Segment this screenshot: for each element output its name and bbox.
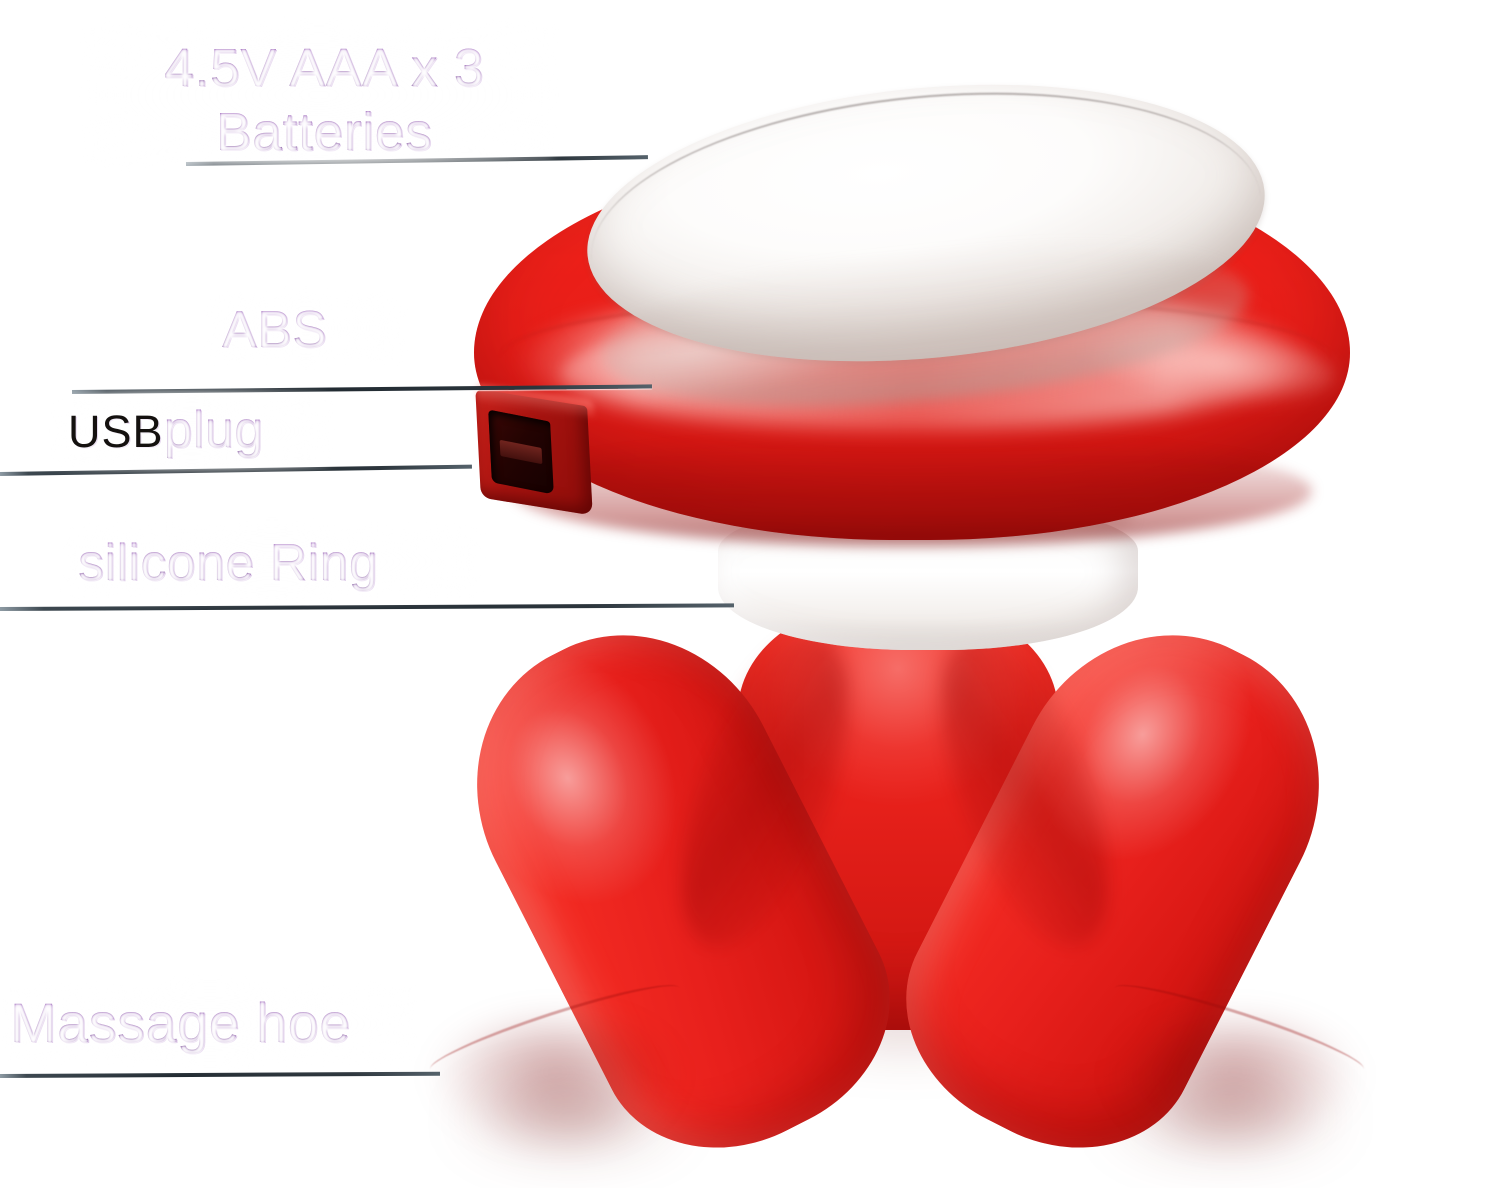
annotation-label-batteries-line1: 4.5V AAA x 3 [164,38,484,98]
white-top-cap [575,56,1278,390]
annotation-label-usb-plug: USBplug [68,400,263,460]
usb-port-housing [475,389,592,516]
annotation-label-batteries: 4.5V AAA x 3 Batteries [104,36,544,164]
leg-crease-right [907,614,1142,969]
leader-line-silicone-ring [0,603,734,611]
massage-leg-right [864,584,1372,1188]
annotation-label-silicone-ring: silicone Ring [78,533,378,593]
annotation-label-massage-hoe-text: Massage hoe [10,991,351,1054]
annotation-label-abs-text: ABS [222,301,327,359]
leg-left-shadow [452,1078,692,1158]
top-cap-edge-outline [579,64,1273,391]
usb-port-cavity [488,409,554,494]
annotation-label-usb-prefix: USB [68,406,164,457]
massage-leg-left [424,584,932,1188]
annotation-label-silicone-ring-text: silicone Ring [78,534,378,592]
usb-port-tongue [500,440,543,464]
leg-seam-right [1109,972,1368,1084]
leg-tip-shading-left [430,1020,680,1150]
dome-crease-line [500,296,1330,419]
leader-line-massage-hoe [0,1072,440,1078]
dome-gloss-highlight [520,290,1310,430]
annotation-label-abs: ABS [222,300,327,360]
leg-seam-left [425,972,684,1084]
leg-center-shadow [760,980,1050,1056]
leg-right-shadow [1100,1078,1350,1158]
silicone-ring-shading [722,498,1134,540]
dome-gloss-highlight-left [557,301,893,413]
annotation-label-usb-suffix: plug [164,401,264,459]
dome-bottom-rim [512,436,1312,546]
dome-gloss-highlight-right [1082,319,1337,413]
leg-crease-left [647,614,882,969]
massage-leg-center [738,600,1058,1030]
white-silicone-ring [718,500,1138,650]
red-dome-body [474,150,1350,540]
annotation-label-massage-hoe: Massage hoe [10,990,351,1055]
top-cap-underlip-shading [594,219,1255,431]
leg-tip-shading-right [1110,1020,1360,1150]
annotation-label-batteries-line2: Batteries [216,102,433,162]
product-annotation-image: 4.5V AAA x 3 Batteries ABS USBplug silic… [0,0,1500,1188]
